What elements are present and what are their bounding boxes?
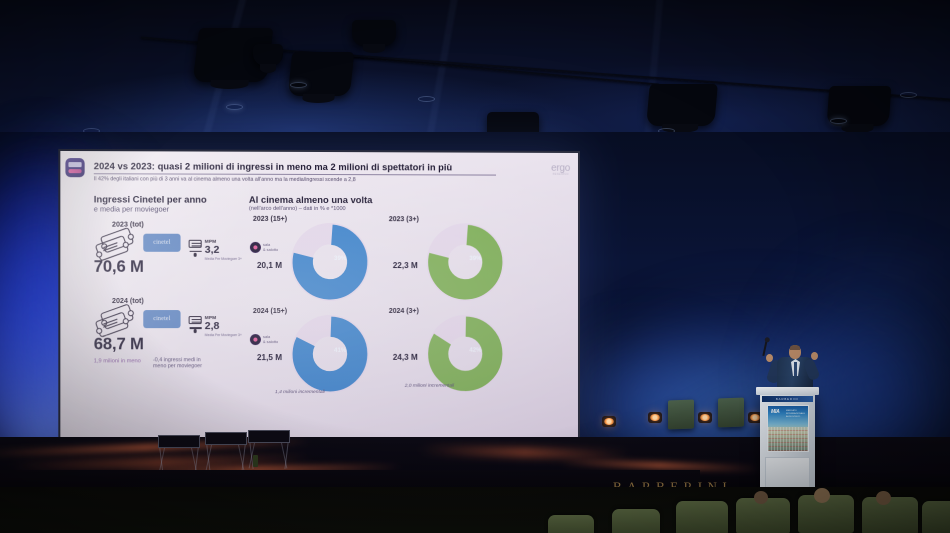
speaker-head	[789, 345, 801, 359]
ceiling-downlight-icon	[418, 96, 435, 102]
donut-value: 24,3 M	[393, 353, 418, 362]
conference-stage-photo: 2024 vs 2023: quasi 2 milioni di ingress…	[0, 0, 950, 533]
theater-seat	[862, 497, 918, 533]
ticket-icon	[94, 307, 140, 337]
theater-seat	[922, 501, 950, 533]
donut-percent: 42%	[469, 347, 481, 354]
ceiling-panel-lines	[0, 0, 950, 150]
presentation-slide: 2024 vs 2023: quasi 2 milioni di ingress…	[60, 151, 578, 441]
theater-seat	[612, 509, 660, 533]
year-label: 2023 (tot)	[112, 221, 249, 229]
donut-label: 2024 (15+)	[253, 308, 371, 315]
mpm-value: 3,2	[205, 244, 242, 256]
donut-arc	[427, 223, 504, 301]
ceiling-downlight-icon	[830, 118, 847, 124]
donut-row-2023: sala& salotto 2023 (15+)	[249, 216, 566, 302]
donut-value: 21,5 M	[257, 353, 282, 362]
audience-member-head	[876, 491, 891, 505]
ceiling-light-fixture	[253, 44, 283, 66]
mia-event-poster: MIA MERCATOINTERNAZIONALEAUDIOVISIVO	[767, 405, 809, 452]
ergo-tagline: RESEARCH	[551, 173, 570, 176]
donut-chart-2023-3plus: 2023 (3+) 39% 22,3 M	[389, 216, 506, 303]
cinetel-chip-label: cinetel	[153, 240, 170, 246]
audience-seating	[0, 487, 950, 533]
donut-chart-2023-15plus: 2023 (15+) 39% 20,1 M	[253, 216, 371, 303]
slide-right-panel: Al cinema almeno una volta (nell'arco de…	[249, 193, 566, 404]
slide-title: 2024 vs 2023: quasi 2 milioni di ingress…	[94, 161, 566, 173]
left-panel-heading: Ingressi Cinetel per anno	[94, 193, 249, 204]
podium-strip-label: BARBERINI	[762, 396, 813, 402]
ceiling-downlight-icon	[290, 82, 307, 88]
poster-artwork	[768, 427, 808, 451]
donut-ring: 42%	[427, 315, 504, 393]
year-label: 2024 (tot)	[112, 297, 249, 305]
donut-arc	[291, 315, 369, 393]
mpm-caption: Media Per Moviegoer 3+	[205, 257, 242, 261]
mia-poster-lines: MERCATOINTERNAZIONALEAUDIOVISIVO	[786, 410, 805, 418]
theater-seat	[676, 501, 728, 533]
incremental-note: 1,4 milioni incrementali	[275, 390, 325, 395]
stage-monitor-speaker	[718, 398, 744, 428]
mpm-value: 2,8	[205, 320, 242, 332]
ceiling-light-fixture	[646, 84, 718, 126]
par-can-light	[602, 416, 616, 427]
stage-light-beam	[420, 446, 630, 459]
slide-logo-icon	[65, 158, 84, 177]
stage-monitor-speaker	[668, 400, 694, 430]
theater-seat	[548, 515, 594, 533]
donut-arc	[427, 315, 504, 393]
speaker-left-hand	[766, 354, 773, 362]
audience-member-head	[754, 491, 768, 504]
speaker-right-hand	[811, 352, 818, 360]
director-chair	[205, 432, 247, 466]
director-chair	[158, 435, 200, 469]
ergo-logo: ergo RESEARCH	[551, 163, 570, 176]
ceiling-light-fixture	[288, 52, 355, 96]
slide-title-rule	[94, 173, 496, 175]
cinema-screen-person-icon	[189, 240, 202, 258]
right-panel-heading: Al cinema almeno una volta	[249, 193, 566, 205]
delta-admissions-note: 1,9 milioni in meno	[94, 358, 141, 370]
mpm-caption: Media Per Moviegoer 3+	[205, 334, 242, 338]
mia-logo: MIA	[771, 409, 780, 415]
auditorium-ceiling	[0, 0, 950, 150]
ceiling-downlight-icon	[226, 104, 243, 110]
ticket-icon	[94, 231, 140, 261]
speaker-podium: BARBERINI MIA MERCATOINTERNAZIONALEAUDIO…	[760, 393, 815, 499]
slide-subtitle: Il 42% degli italiani con più di 3 anni …	[94, 176, 566, 184]
donut-percent: 39%	[469, 255, 481, 262]
donut-value: 22,3 M	[393, 261, 418, 270]
ceiling-downlight-icon	[900, 92, 917, 98]
donut-row-2024: sala& salotto 2024 (15+)	[249, 308, 566, 404]
donut-label: 2024 (3+)	[389, 308, 506, 315]
delta-mpm-note: -0,4 ingressi medi in meno per moviegoer	[153, 357, 203, 370]
cinetel-chip-label: cinetel	[153, 317, 170, 323]
year-block-2023: 2023 (tot) cinetel	[94, 221, 249, 278]
water-bottle	[253, 455, 258, 467]
donut-ring: 39%	[291, 223, 369, 301]
par-can-light	[698, 412, 712, 423]
donut-chart-2024-15plus: 2024 (15+) 41% 21,5 M	[253, 308, 371, 395]
audience-member-head	[814, 488, 830, 503]
donut-percent: 41%	[334, 347, 346, 354]
donut-chart-2024-3plus: 2024 (3+) 42% 24,3 M	[389, 308, 506, 395]
slide-left-panel: Ingressi Cinetel per anno e media per mo…	[72, 193, 248, 405]
donut-ring: 39%	[427, 223, 504, 301]
donut-arc	[291, 223, 369, 301]
incremental-note: 2,0 milioni incrementali	[405, 384, 454, 389]
cinetel-chip: cinetel	[143, 310, 180, 328]
cinema-screen-person-icon	[189, 316, 202, 334]
donut-percent: 39%	[334, 255, 346, 262]
mpm-metric-2024: MPM 2,8 Media Per Moviegoer 3+	[189, 316, 242, 338]
par-can-light	[648, 412, 662, 423]
right-panel-subheading: (nell'arco dell'anno) – dati in % e *100…	[249, 206, 566, 213]
donut-ring: 41%	[291, 315, 369, 393]
speaker-tie	[794, 362, 797, 376]
left-panel-subheading: e media per moviegoer	[94, 204, 249, 213]
cinetel-chip: cinetel	[143, 234, 180, 252]
donut-value: 20,1 M	[257, 261, 282, 270]
year-block-2024: 2024 (tot) cinetel	[94, 297, 249, 370]
ceiling-light-fixture	[352, 20, 396, 46]
projection-screen: 2024 vs 2023: quasi 2 milioni di ingress…	[58, 149, 580, 443]
podium-top-surface	[756, 387, 819, 395]
podium-venue-strip: BARBERINI	[762, 396, 813, 402]
mpm-metric-2023: MPM 3,2 Media Per Moviegoer 3+	[189, 240, 242, 262]
